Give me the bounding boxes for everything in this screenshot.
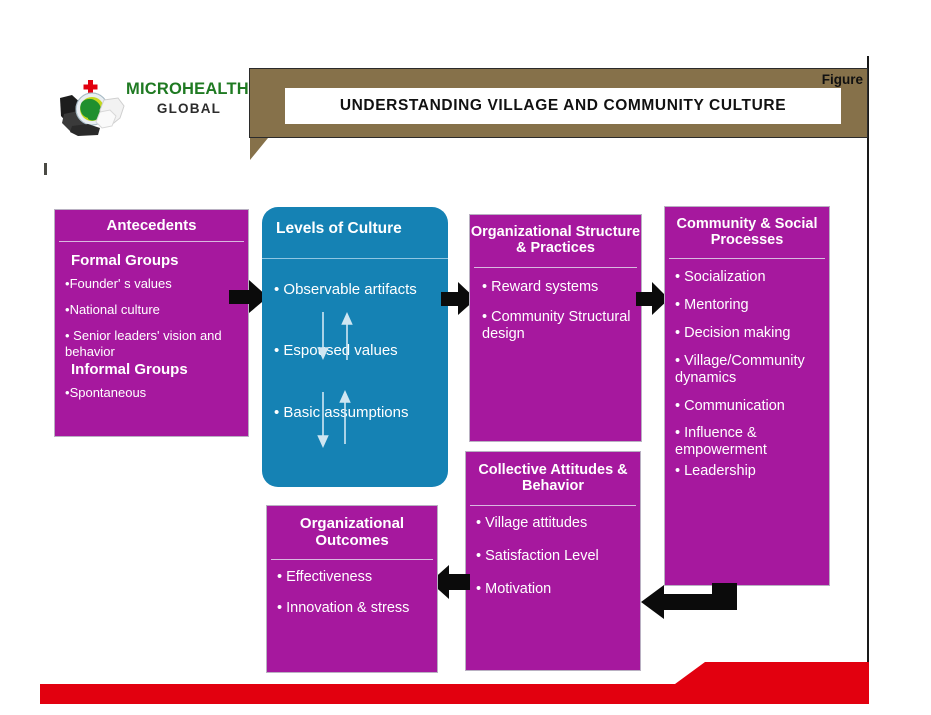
list-item: •National culture: [65, 302, 240, 317]
logo-subtitle: GLOBAL: [126, 101, 252, 116]
box-antecedents-title: Antecedents: [55, 210, 248, 235]
box-levels-body: • Observable artifacts • Espoused values…: [262, 259, 448, 422]
logo-wordmark: MICROHEALTH GLOBAL: [126, 81, 252, 116]
box-levels-of-culture[interactable]: Levels of Culture • Observable artifacts…: [262, 207, 448, 487]
globe-in-hands-icon: [58, 78, 134, 140]
box-antecedents[interactable]: Antecedents Formal Groups •Founder' s va…: [54, 209, 249, 437]
box-antecedents-body: Formal Groups •Founder' s values •Nation…: [55, 242, 248, 400]
box-collective-attitudes[interactable]: Collective Attitudes & Behavior • Villag…: [465, 451, 641, 671]
list-item: • Espoused values: [274, 342, 438, 360]
figure-label: Figure: [822, 72, 863, 87]
box-outcomes-body: • Effectiveness • Innovation & stress: [267, 560, 437, 617]
list-item: • Observable artifacts: [274, 281, 438, 299]
list-item: • Senior leaders' vision and behavior: [65, 328, 240, 358]
list-item: • Effectiveness: [277, 569, 432, 586]
list-item: • Socialization: [675, 269, 824, 286]
list-item: • Basic assumptions: [274, 404, 438, 422]
box-org-structure-title: Organizational Structure & Practices: [470, 215, 641, 257]
org-structure-list: • Reward systems • Community Structural …: [482, 279, 633, 343]
list-item: • Community Structural design: [482, 309, 633, 343]
box-organizational-outcomes[interactable]: Organizational Outcomes • Effectiveness …: [266, 505, 438, 673]
list-item: • Communication: [675, 398, 824, 415]
box-outcomes-title: Organizational Outcomes: [267, 506, 437, 550]
subhead-formal-groups: Formal Groups: [65, 252, 240, 269]
box-organizational-structure[interactable]: Organizational Structure & Practices • R…: [469, 214, 642, 442]
antecedents-informal-list: •Spontaneous: [65, 385, 240, 400]
banner-tail-shape: [250, 138, 268, 160]
list-item: •Spontaneous: [65, 385, 240, 400]
list-item: • Decision making: [675, 325, 824, 342]
right-frame-line: [867, 56, 869, 704]
slide-canvas: MICROHEALTH GLOBAL Figure UNDERSTANDING …: [0, 0, 931, 715]
outcomes-list: • Effectiveness • Innovation & stress: [277, 569, 432, 617]
left-tick-mark: [44, 163, 47, 175]
list-item: • Mentoring: [675, 297, 824, 314]
box-levels-title: Levels of Culture: [262, 207, 448, 238]
box-org-structure-body: • Reward systems • Community Structural …: [470, 268, 641, 343]
levels-list: • Observable artifacts • Espoused values…: [274, 281, 438, 422]
list-item: • Innovation & stress: [277, 600, 432, 617]
bottom-red-bar: [40, 662, 869, 704]
banner-title-box: UNDERSTANDING VILLAGE AND COMMUNITY CULT…: [285, 88, 841, 124]
list-item: • Motivation: [476, 581, 635, 598]
box-community-body: • Socialization • Mentoring • Decision m…: [665, 259, 829, 481]
box-community-title: Community & Social Processes: [665, 207, 829, 249]
antecedents-formal-list: •Founder' s values •National culture • S…: [65, 276, 240, 359]
arrow-community-to-collective: [640, 583, 738, 626]
box-collective-title: Collective Attitudes & Behavior: [466, 452, 640, 495]
logo-name: MICROHEALTH: [126, 81, 252, 98]
list-item: • Leadership: [675, 463, 824, 480]
collective-list: • Village attitudes • Satisfaction Level…: [476, 515, 635, 598]
box-collective-body: • Village attitudes • Satisfaction Level…: [466, 506, 640, 598]
microhealth-global-logo: MICROHEALTH GLOBAL: [58, 72, 248, 144]
list-item: • Village/Community dynamics: [675, 353, 824, 387]
list-item: • Reward systems: [482, 279, 633, 296]
subhead-informal-groups: Informal Groups: [65, 361, 240, 378]
list-item: •Founder' s values: [65, 276, 240, 291]
list-item: • Satisfaction Level: [476, 548, 635, 565]
page-title: UNDERSTANDING VILLAGE AND COMMUNITY CULT…: [340, 97, 786, 115]
list-item: • Influence & empowerment: [675, 425, 824, 459]
list-item: • Village attitudes: [476, 515, 635, 532]
box-community-social-processes[interactable]: Community & Social Processes • Socializa…: [664, 206, 830, 586]
community-list: • Socialization • Mentoring • Decision m…: [675, 269, 824, 481]
